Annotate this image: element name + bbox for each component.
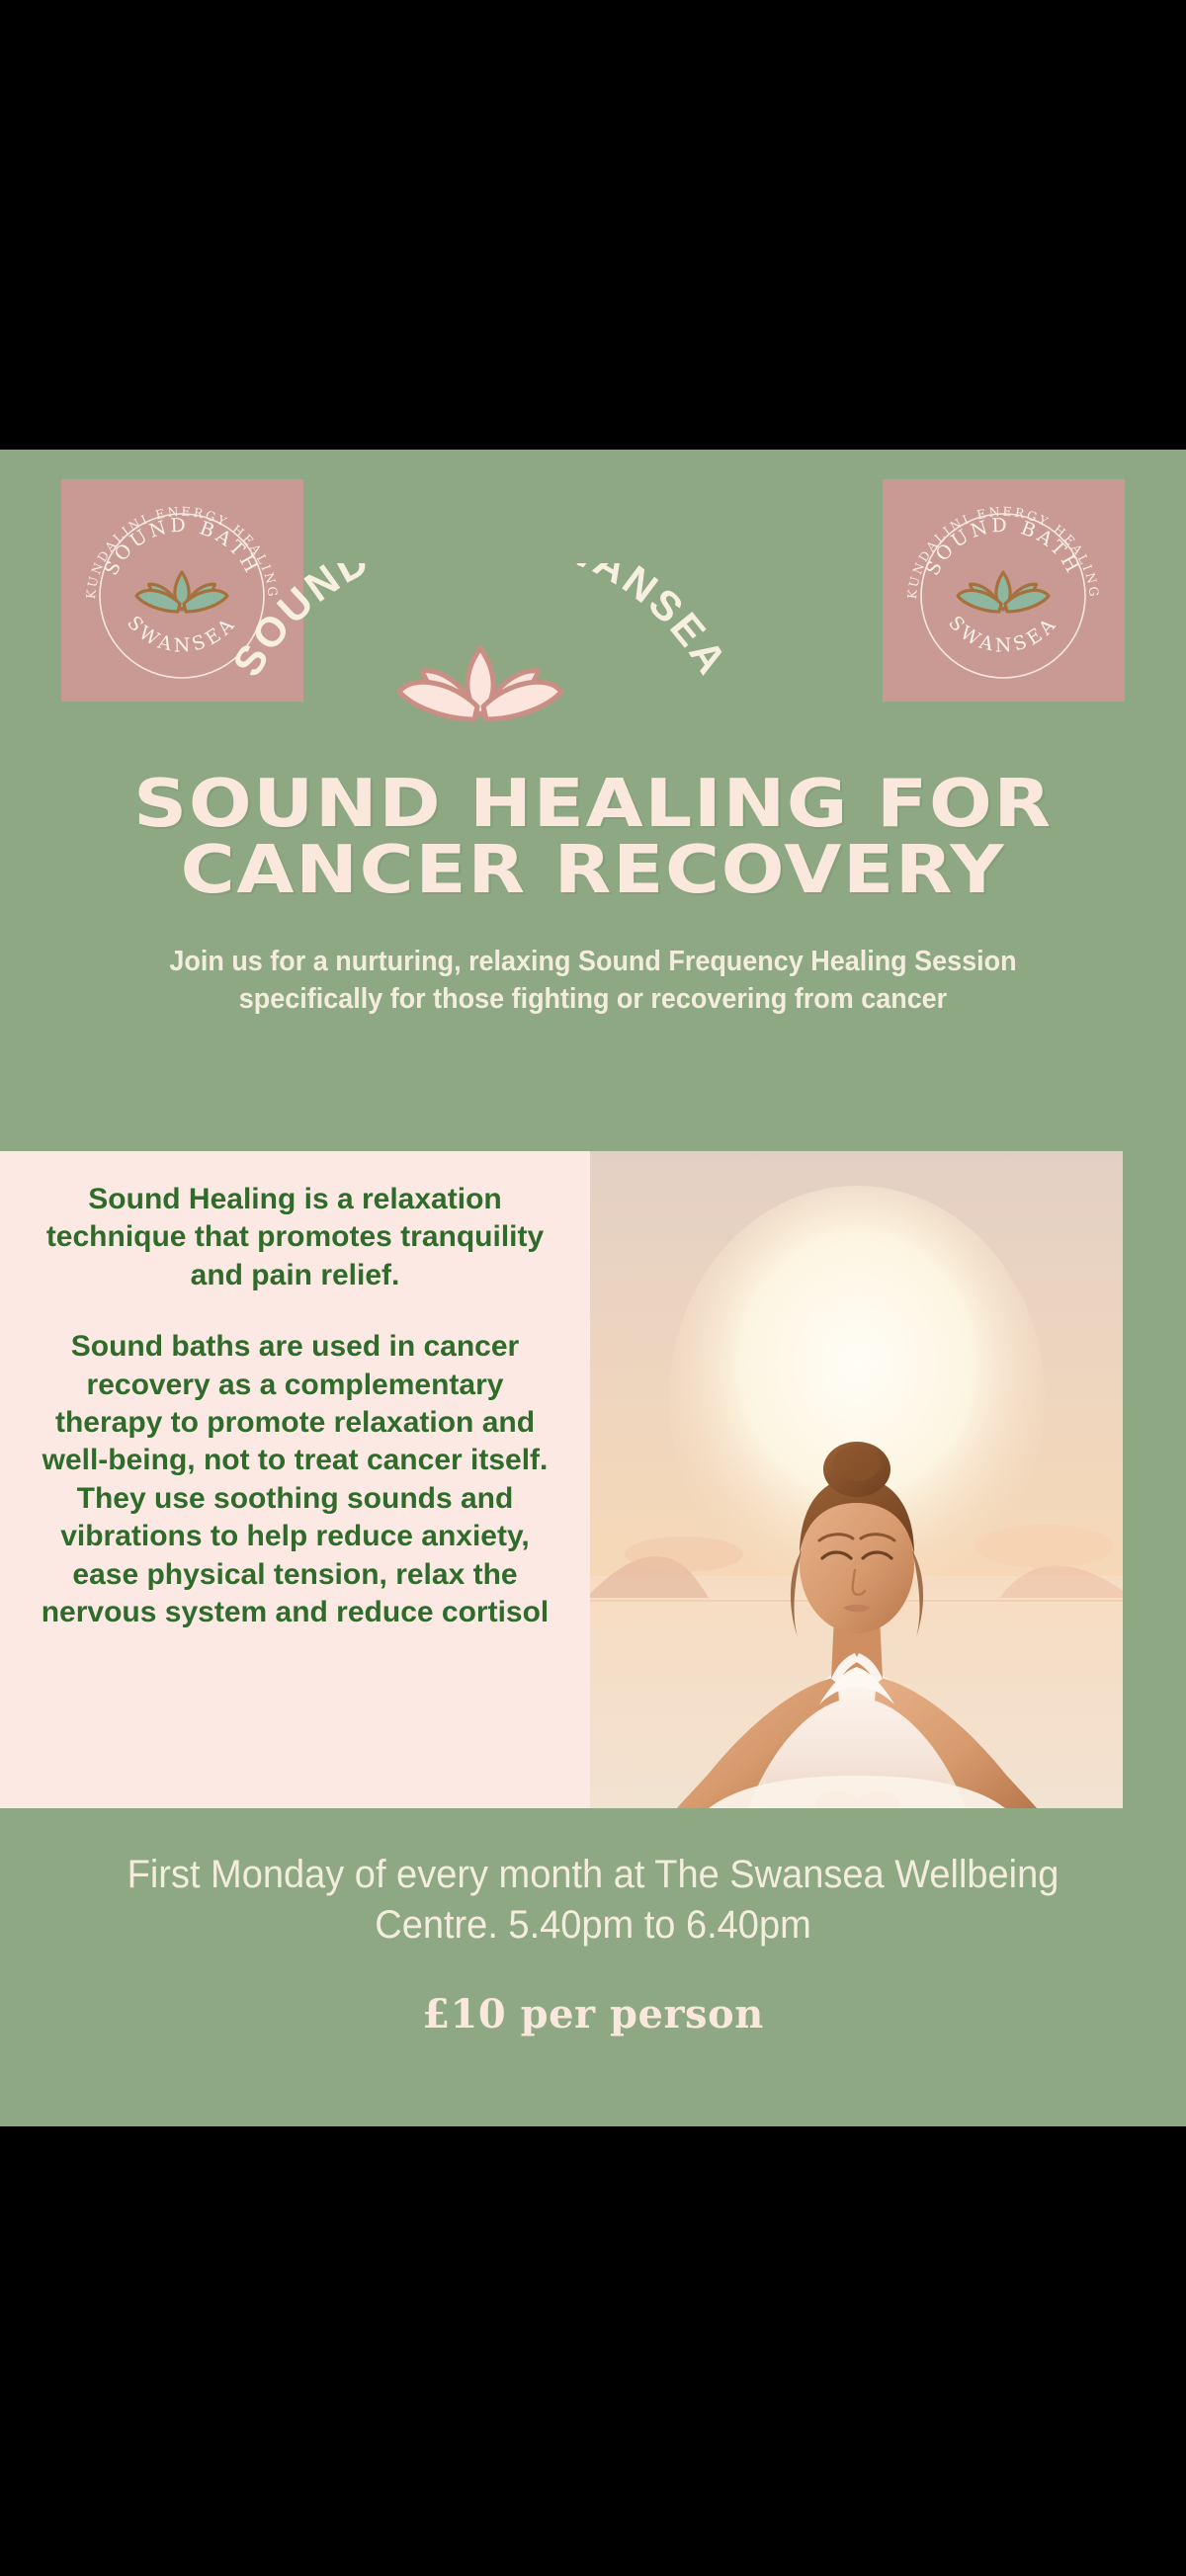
brand-badge-right: KUNDALINI ENERGY HEALING SOUND BATH SWAN… — [883, 479, 1125, 702]
letterbox-top — [0, 0, 1186, 450]
description-paragraph-2: Sound baths are used in cancer recovery … — [32, 1328, 558, 1631]
headline-line-2: CANCER RECOVERY — [0, 837, 1186, 903]
poster-canvas: KUNDALINI ENERGY HEALING SOUND BATH SWAN… — [0, 450, 1186, 2126]
description-panel: Sound Healing is a relaxation technique … — [0, 1151, 590, 1808]
schedule-text: First Monday of every month at The Swans… — [67, 1850, 1119, 1951]
letterbox-bottom — [0, 2126, 1186, 2576]
badge-bottom-text: SWANSEA — [944, 612, 1062, 656]
arched-wordmark: SOUND BATH SWANSEA — [204, 563, 757, 761]
poster-header: KUNDALINI ENERGY HEALING SOUND BATH SWAN… — [0, 450, 1186, 1151]
poster-footer: First Monday of every month at The Swans… — [0, 1808, 1186, 2126]
lotus-icon — [958, 572, 1049, 612]
price-text: £10 per person — [40, 1991, 1146, 2037]
meditation-photo — [590, 1151, 1123, 1808]
content-band: Sound Healing is a relaxation technique … — [0, 1151, 1186, 1808]
page-title: SOUND HEALING FOR CANCER RECOVERY — [0, 771, 1186, 903]
subtitle: Join us for a nurturing, relaxing Sound … — [150, 944, 1037, 1018]
lotus-icon — [399, 648, 561, 719]
description-paragraph-1: Sound Healing is a relaxation technique … — [32, 1181, 558, 1294]
